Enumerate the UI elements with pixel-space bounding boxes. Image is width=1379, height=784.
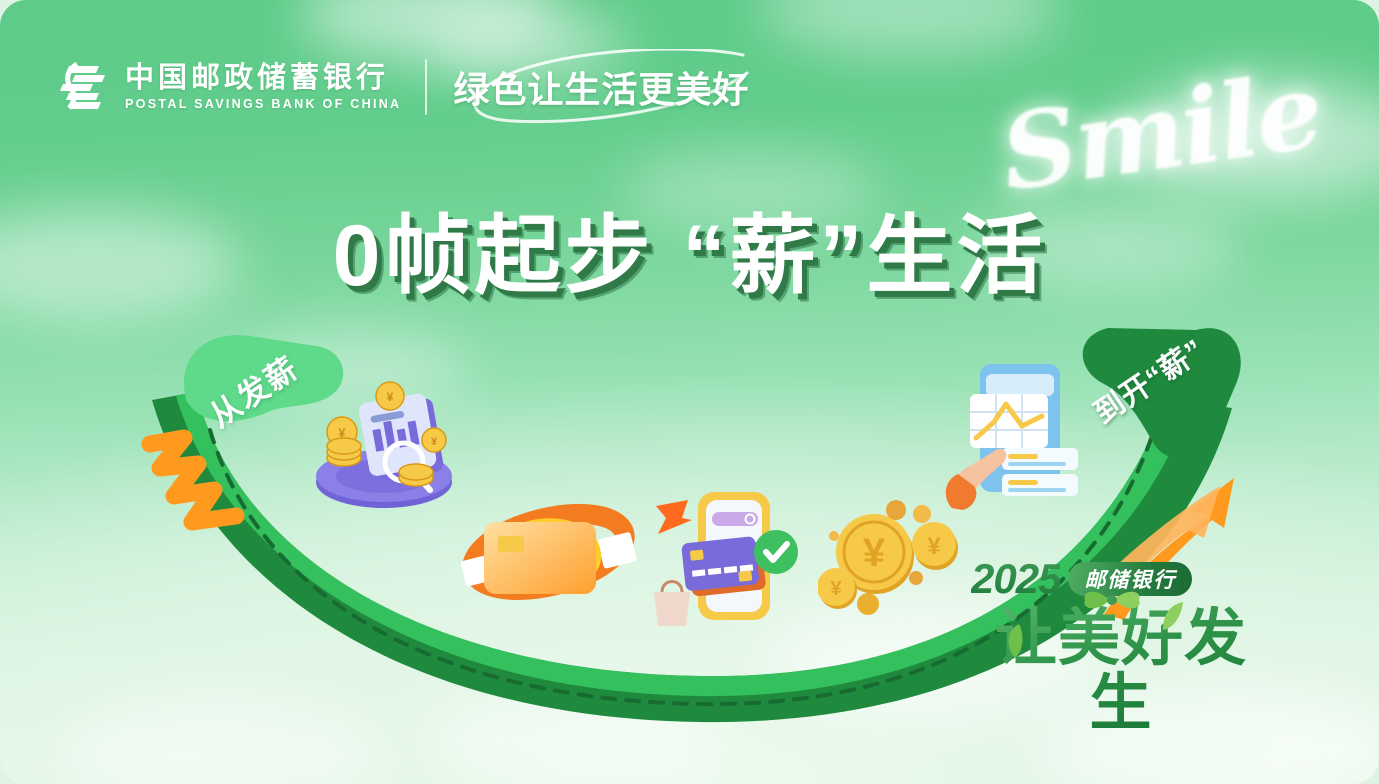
leaf-icon — [1161, 602, 1183, 632]
svg-text:¥: ¥ — [431, 436, 438, 448]
mobile-payment-phone-illustration — [640, 486, 820, 631]
header-divider — [425, 59, 427, 115]
campaign-banner: 中国邮政储蓄银行 POSTAL SAVINGS BANK OF CHINA 绿色… — [0, 0, 1379, 784]
bow-leaf-icon — [1079, 586, 1145, 614]
brand-name-en: POSTAL SAVINGS BANK OF CHINA — [125, 97, 401, 111]
svg-text:¥: ¥ — [830, 578, 842, 600]
campaign-tagline: 让美好发生 — [995, 604, 1247, 738]
brand-slogan: 绿色让生活更美好 — [453, 61, 749, 113]
svg-text:¥: ¥ — [387, 390, 394, 404]
cloud-decoration — [1120, 80, 1379, 200]
page-title: 0帧起步 “薪”生活 — [0, 185, 1379, 310]
brand-name-cn: 中国邮政储蓄银行 — [125, 63, 401, 93]
svg-text:¥: ¥ — [863, 531, 886, 575]
journey-start-label: 从发薪 — [198, 343, 305, 436]
campaign-lockup: 2025 邮储银行 让美好发生 — [971, 556, 1271, 736]
brand-header: 中国邮政储蓄银行 POSTAL SAVINGS BANK OF CHINA 绿色… — [55, 55, 749, 119]
orange-zigzag-icon — [140, 424, 280, 540]
cloud-decoration — [760, 0, 1060, 56]
journey-end-label: 到开“薪” — [1083, 326, 1211, 432]
wallet-card-ring-illustration — [448, 478, 648, 623]
svg-text:¥: ¥ — [927, 533, 941, 560]
postal-savings-bank-logo-icon — [55, 62, 111, 112]
growth-chart-card-illustration — [940, 352, 1100, 514]
svg-text:¥: ¥ — [339, 426, 346, 440]
cloud-decoration — [60, 700, 380, 784]
campaign-year: 2025 — [971, 555, 1060, 603]
leaf-icon — [1005, 624, 1025, 658]
campaign-tagline-block: 让美好发生 — [971, 606, 1271, 736]
brand-slogan-block: 绿色让生活更美好 — [453, 55, 749, 119]
cloud-decoration — [430, 690, 730, 784]
brand-name-block: 中国邮政储蓄银行 POSTAL SAVINGS BANK OF CHINA — [125, 63, 401, 111]
cloud-decoration — [300, 0, 560, 60]
